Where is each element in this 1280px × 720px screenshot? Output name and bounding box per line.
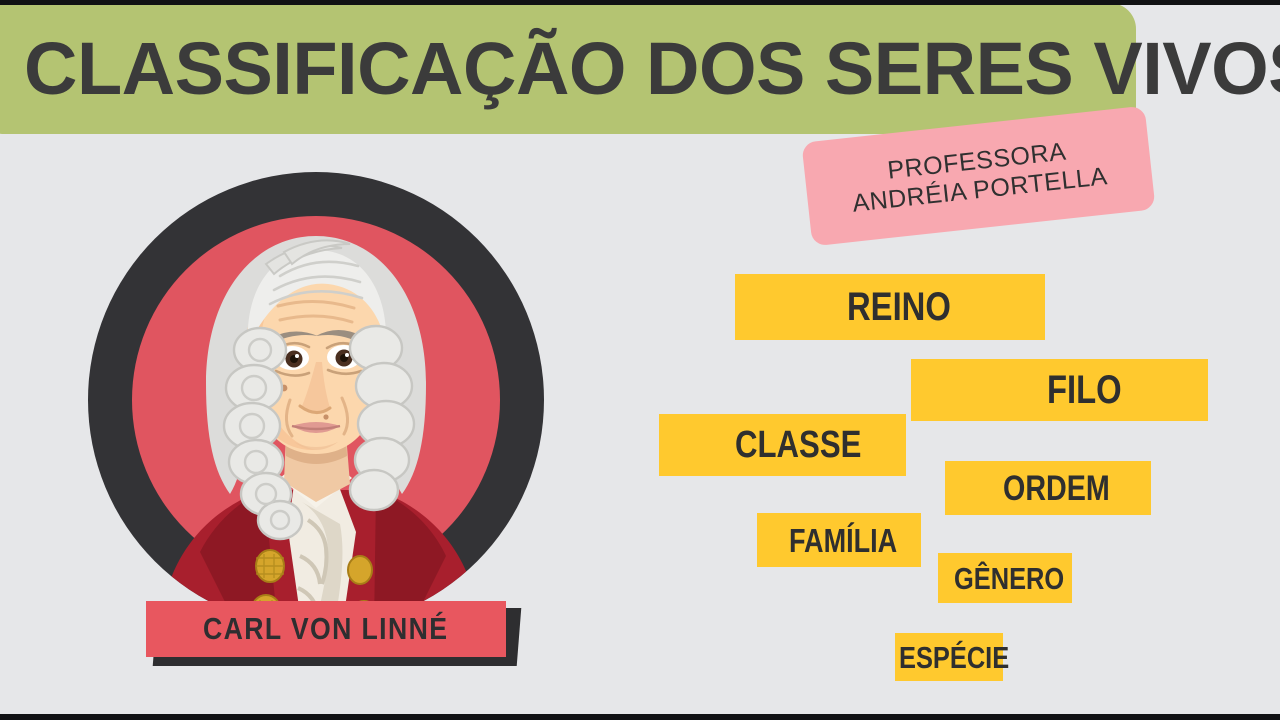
- taxonomy-rank-reino: REINO: [735, 274, 1045, 340]
- slide-canvas: CLASSIFICAÇÃO DOS SERES VIVOS PROFESSORA…: [0, 0, 1280, 720]
- title-banner: CLASSIFICAÇÃO DOS SERES VIVOS: [0, 3, 1136, 134]
- taxonomy-rank-família: FAMÍLIA: [757, 513, 921, 567]
- taxonomy-rank-espécie: ESPÉCIE: [895, 633, 1003, 681]
- scientist-name: CARL VON LINNÉ: [203, 611, 448, 647]
- taxonomy-rank-classe: CLASSE: [659, 414, 906, 476]
- portrait-group: [88, 172, 544, 628]
- taxonomy-rank-label: FAMÍLIA: [789, 524, 897, 557]
- taxonomy-rank-ordem: ORDEM: [945, 461, 1151, 515]
- taxonomy-rank-label: CLASSE: [735, 426, 861, 464]
- taxonomy-rank-gênero: GÊNERO: [938, 553, 1072, 603]
- carl-von-linne-illustration: [88, 172, 544, 628]
- taxonomy-rank-label: REINO: [847, 287, 951, 327]
- letterbox-top: [0, 0, 1280, 5]
- letterbox-bottom: [0, 714, 1280, 720]
- page-title: CLASSIFICAÇÃO DOS SERES VIVOS: [24, 32, 1280, 106]
- taxonomy-rank-filo: FILO: [911, 359, 1208, 421]
- taxonomy-rank-label: ESPÉCIE: [899, 642, 1009, 673]
- name-banner: CARL VON LINNÉ: [146, 601, 506, 657]
- taxonomy-rank-label: GÊNERO: [954, 563, 1064, 594]
- taxonomy-rank-label: ORDEM: [1003, 471, 1110, 506]
- taxonomy-rank-label: FILO: [1047, 370, 1122, 410]
